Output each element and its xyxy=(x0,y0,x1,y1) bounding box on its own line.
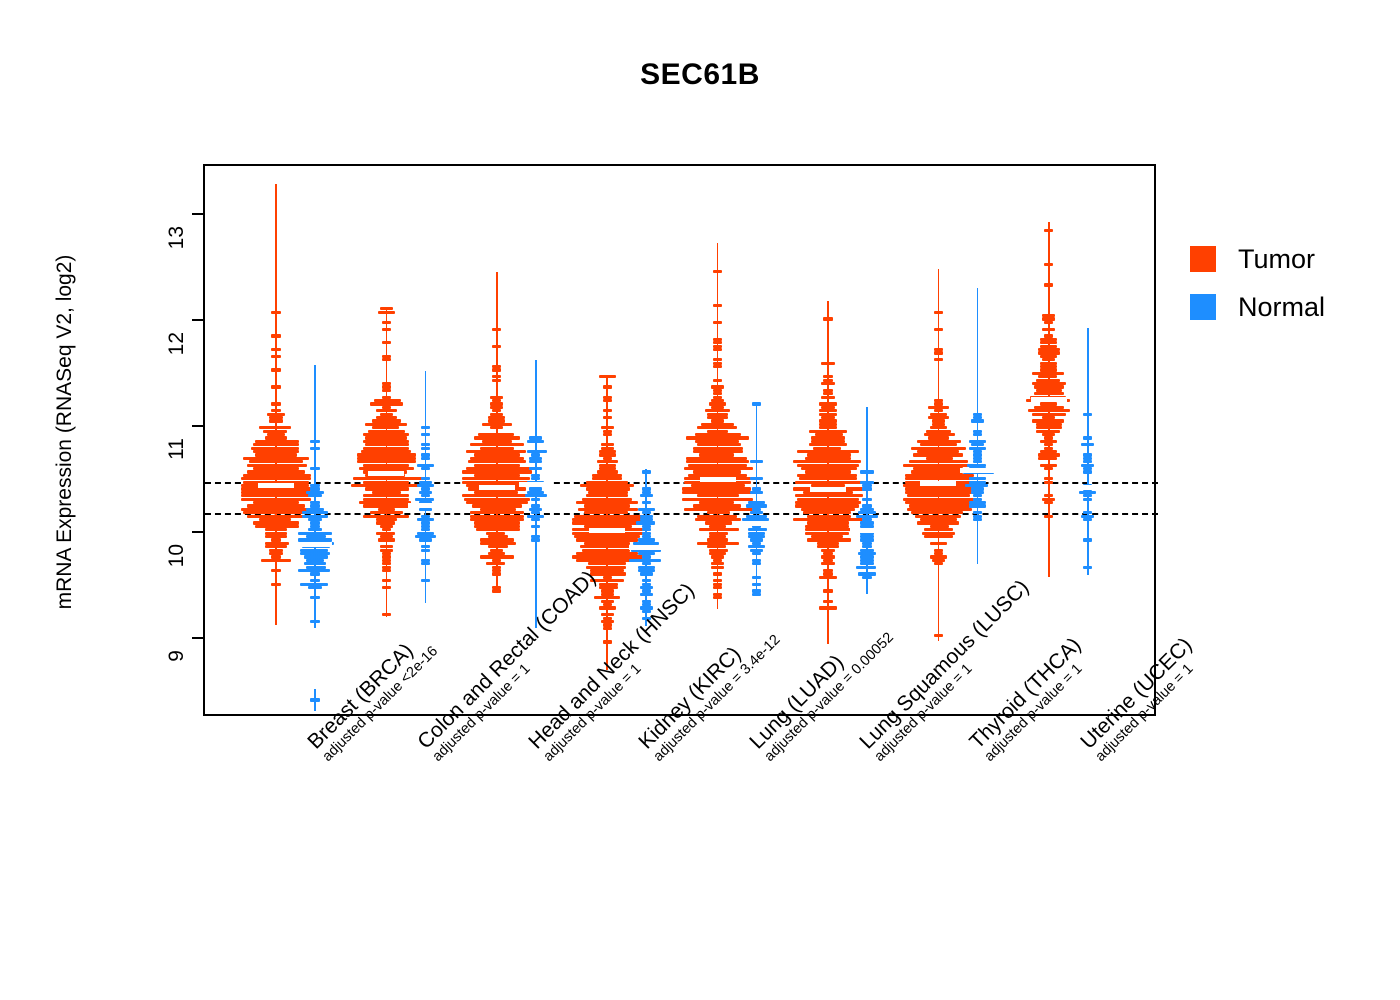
y-tick-mark xyxy=(192,531,203,533)
plot-area: 910111213 xyxy=(203,164,1156,716)
y-tick-mark xyxy=(192,319,203,321)
beeswarm-series-container xyxy=(205,166,1158,714)
y-tick-mark xyxy=(192,637,203,639)
y-tick-mark xyxy=(192,213,203,215)
y-tick-label: 9 xyxy=(165,650,189,662)
y-tick-label: 12 xyxy=(165,332,189,355)
y-tick-label: 10 xyxy=(165,544,189,567)
y-axis-label: mRNA Expression (RNASeq V2, log2) xyxy=(53,152,77,712)
y-tick-label: 11 xyxy=(165,438,189,460)
y-tick-mark xyxy=(192,425,203,427)
chart-title: SEC61B xyxy=(0,58,1400,92)
y-tick-label: 13 xyxy=(165,226,189,249)
chart-canvas: SEC61B mRNA Expression (RNASeq V2, log2)… xyxy=(0,0,1400,1000)
